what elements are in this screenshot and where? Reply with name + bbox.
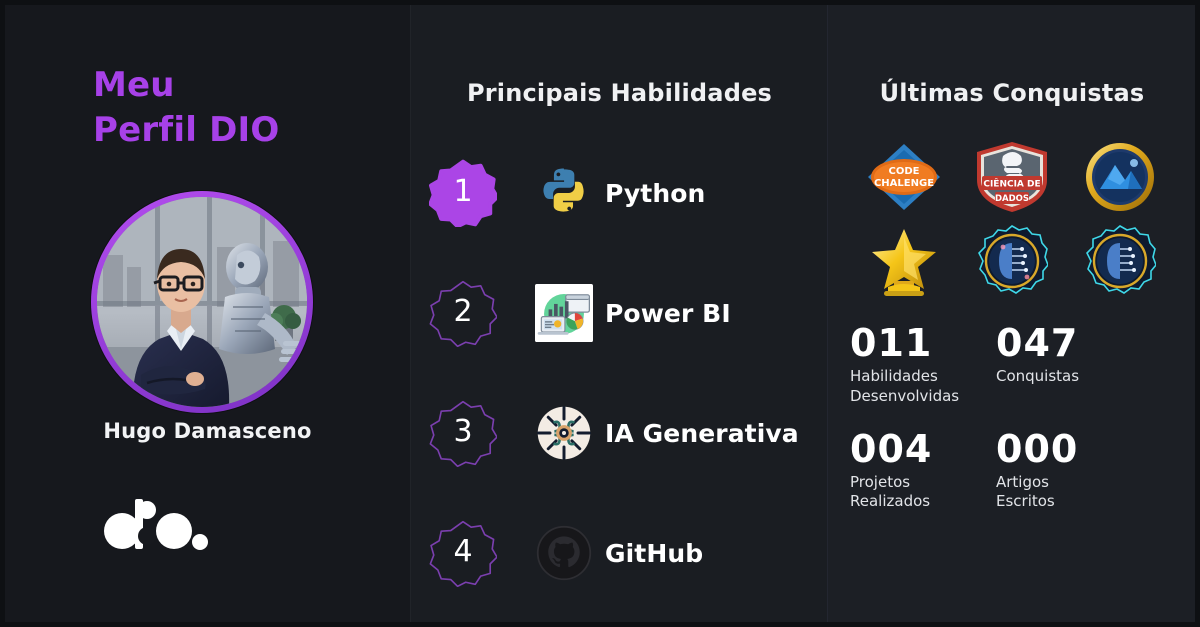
dio-logo: [100, 497, 210, 553]
skill-row[interactable]: 4 GitHub: [429, 493, 829, 613]
profile-card: Meu Perfil DIO: [5, 5, 1195, 622]
page-title-line2: Perfil DIO: [93, 108, 279, 153]
rank-badge-4: 4: [429, 519, 497, 587]
stat-label: Conquistas: [996, 367, 1142, 387]
stat-label: Artigos Escritos: [996, 473, 1142, 513]
avatar-image: [97, 197, 307, 407]
stat-label: Habilidades Desenvolvidas: [850, 367, 996, 407]
profile-name: Hugo Damasceno: [5, 419, 410, 443]
achievements-section-title: Últimas Conquistas: [828, 79, 1195, 107]
skill-label: Python: [605, 179, 705, 208]
badge-line2: CHALENGE: [874, 178, 934, 189]
stat-value: 000: [996, 429, 1142, 470]
skill-row[interactable]: 1 Python: [429, 133, 829, 253]
skills-section-title: Principais Habilidades: [411, 79, 828, 107]
ia-generativa-icon: [535, 404, 593, 462]
page-title: Meu Perfil DIO: [93, 63, 279, 153]
dio-logo-icon: [100, 497, 210, 553]
badge-line2: DADOS: [995, 194, 1029, 204]
badge-line1: CIÊNCIA DE: [983, 178, 1040, 190]
rank-badge-1: 1: [429, 159, 497, 227]
rank-number: 2: [453, 297, 472, 329]
skill-row[interactable]: 2: [429, 253, 829, 373]
stat-item: 011 Habilidades Desenvolvidas: [850, 323, 996, 407]
gold-star-trophy-badge[interactable]: [850, 223, 958, 299]
skill-label: GitHub: [605, 539, 703, 568]
stat-item: 004 Projetos Realizados: [850, 429, 996, 513]
rank-number: 3: [453, 417, 472, 449]
code-chalenge-badge[interactable]: CODE CHALENGE: [850, 139, 958, 215]
power-bi-icon: [535, 284, 593, 342]
skill-row[interactable]: 3: [429, 373, 829, 493]
rank-number: 1: [453, 177, 472, 209]
ciencia-de-dados-badge[interactable]: CIÊNCIA DE DADOS: [958, 139, 1066, 215]
github-icon: [535, 524, 593, 582]
avatar-ring: [91, 191, 313, 413]
rank-badge-2: 2: [429, 279, 497, 347]
rank-number: 4: [453, 537, 472, 569]
rank-badge-3: 3: [429, 399, 497, 467]
ai-circuit-badge-1[interactable]: [958, 223, 1066, 299]
achievement-badges-grid: CODE CHALENGE CIÊNCIA DE DADOS: [850, 139, 1174, 299]
stat-value: 047: [996, 323, 1142, 364]
page-title-line1: Meu: [93, 65, 175, 105]
stat-item: 047 Conquistas: [996, 323, 1142, 407]
gold-ring-mountain-badge[interactable]: [1066, 139, 1174, 215]
stat-value: 004: [850, 429, 996, 470]
badge-line1: CODE: [889, 166, 920, 177]
profile-column: Meu Perfil DIO: [5, 5, 410, 622]
skill-label: IA Generativa: [605, 419, 799, 448]
skill-label: Power BI: [605, 299, 731, 328]
stat-label: Projetos Realizados: [850, 473, 996, 513]
stat-value: 011: [850, 323, 996, 364]
achievements-column: Últimas Conquistas CODE CHALENGE: [827, 5, 1195, 622]
stat-item: 000 Artigos Escritos: [996, 429, 1142, 513]
skills-column: Principais Habilidades 1 Python: [410, 5, 827, 622]
python-icon: [535, 164, 593, 222]
ai-circuit-badge-2[interactable]: [1066, 223, 1174, 299]
avatar: [97, 197, 307, 407]
stats-grid: 011 Habilidades Desenvolvidas 047 Conqui…: [850, 323, 1180, 512]
skills-list: 1 Python 2: [429, 133, 829, 613]
